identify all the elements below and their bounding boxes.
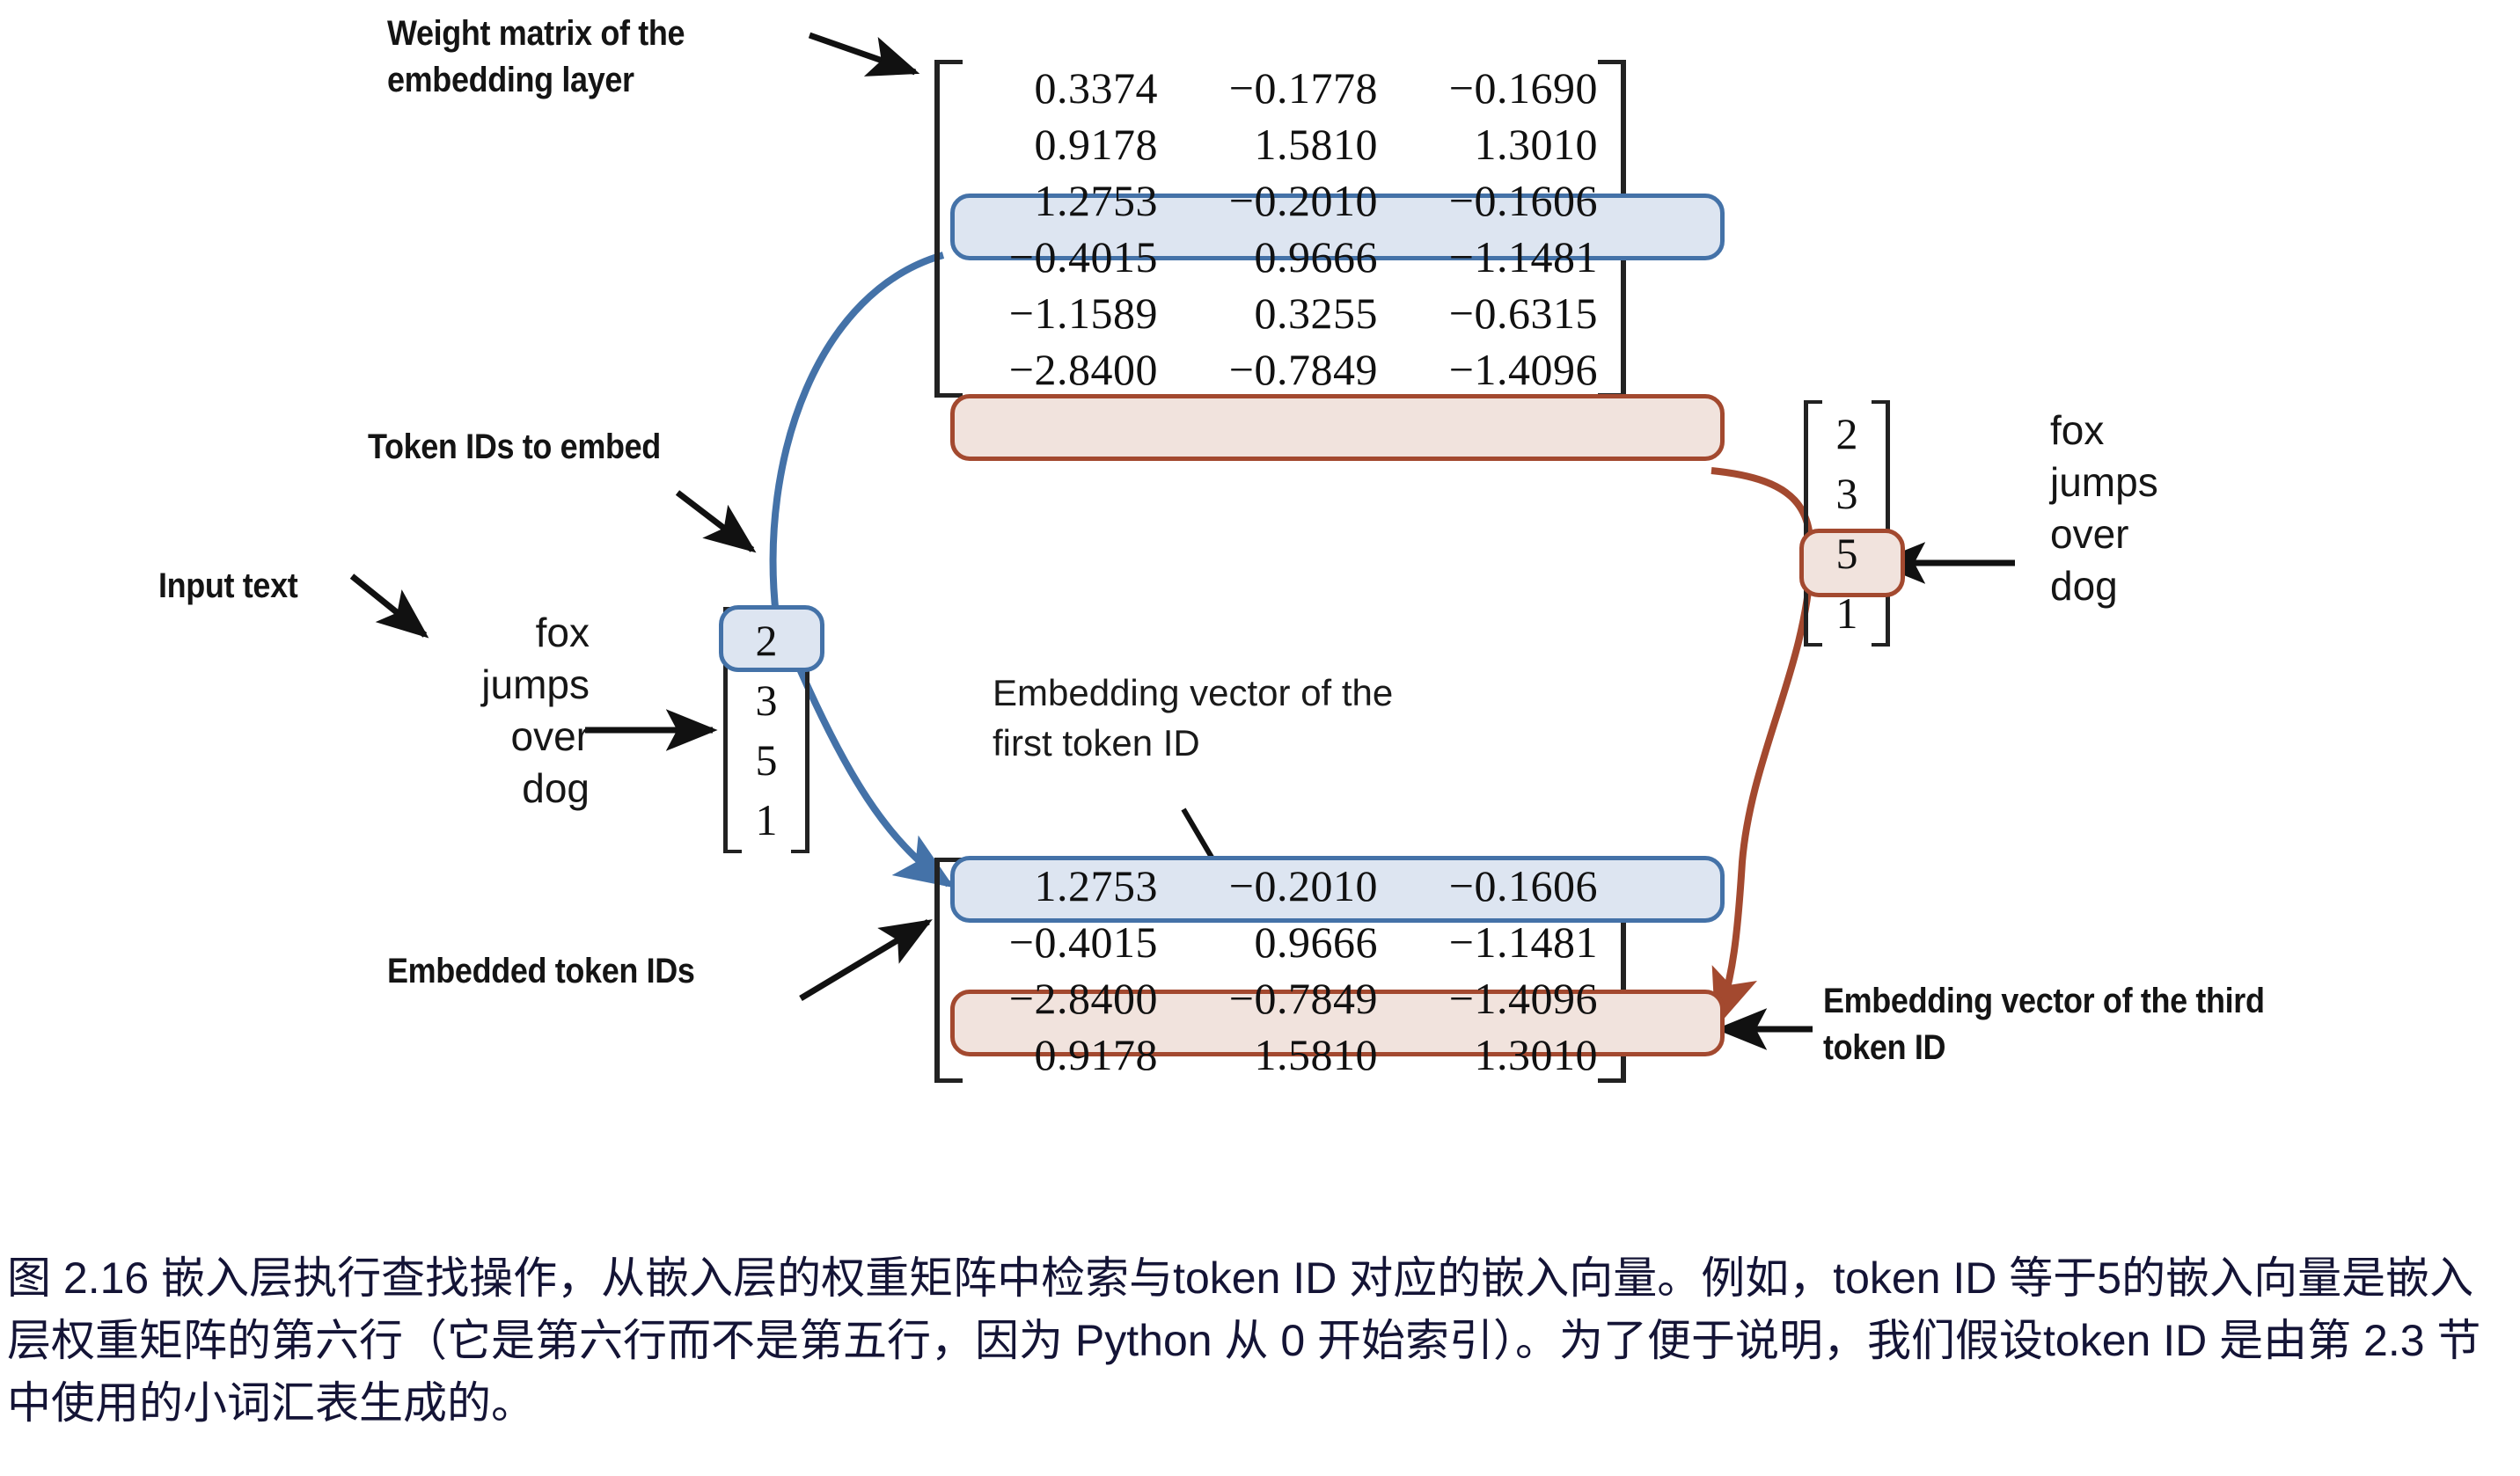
cell: −2.8400 <box>963 341 1158 398</box>
cell: 0.9178 <box>963 1027 1158 1083</box>
weight-matrix-row-2: 1.2753 −0.2010 −0.1606 <box>963 172 1598 229</box>
cell: 0.3374 <box>963 60 1158 116</box>
right-word-0: fox <box>2050 405 2349 457</box>
embedded-matrix-row-1: −0.4015 0.9666 −1.1481 <box>963 914 1598 970</box>
cell: −0.1606 <box>1378 172 1598 229</box>
token-id-cell-1: 3 <box>742 670 791 730</box>
cell: −0.4015 <box>963 914 1158 970</box>
cell: −0.7849 <box>1158 341 1378 398</box>
label-embedding-vector-third: Embedding vector of the third token ID <box>1823 978 2377 1071</box>
cell: 0.9178 <box>963 116 1158 172</box>
cell: −2.8400 <box>963 970 1158 1027</box>
cell: 1.3010 <box>1378 116 1598 172</box>
weight-matrix-row-0: 0.3374 −0.1778 −0.1690 <box>963 60 1598 116</box>
token-id-cell-2: 5 <box>1822 523 1872 583</box>
cell: −1.1589 <box>963 285 1158 341</box>
right-word-2: over <box>2050 508 2349 560</box>
cell: −0.6315 <box>1378 285 1598 341</box>
token-id-cell-1: 3 <box>1822 464 1872 523</box>
right-words: fox jumps over dog <box>2050 405 2349 612</box>
label-embedding-vector-first: Embedding vector of the first token ID <box>993 669 1591 768</box>
weight-matrix-row-3: −0.4015 0.9666 −1.1481 <box>963 229 1598 285</box>
input-word-2: over <box>414 711 590 763</box>
input-text-words: fox jumps over dog <box>414 607 590 815</box>
cell: −0.2010 <box>1158 858 1378 914</box>
embedded-token-ids-matrix: 1.2753 −0.2010 −0.1606 −0.4015 0.9666 −1… <box>934 858 1626 1083</box>
label-weight-matrix: Weight matrix of the embedding layer <box>387 11 799 104</box>
arrow-token-ids-label <box>678 493 752 550</box>
red-lookup-curve <box>1711 471 1811 1022</box>
cell: −1.4096 <box>1378 341 1598 398</box>
arrow-embedded-token-ids-label <box>801 922 928 998</box>
arrow-weight-matrix-label <box>809 35 915 72</box>
embedded-matrix-row-3: 0.9178 1.5810 1.3010 <box>963 1027 1598 1083</box>
label-embedded-token-ids: Embedded token IDs <box>387 948 799 995</box>
cell: 1.5810 <box>1158 116 1378 172</box>
weight-matrix-row-4: −1.1589 0.3255 −0.6315 <box>963 285 1598 341</box>
cell: −1.1481 <box>1378 914 1598 970</box>
figure-canvas: Weight matrix of the embedding layer Tok… <box>0 0 2520 1476</box>
cell: −0.1778 <box>1158 60 1378 116</box>
input-word-1: jumps <box>414 659 590 711</box>
cell: 0.3255 <box>1158 285 1378 341</box>
bracket-left <box>1804 400 1822 647</box>
cell: 1.5810 <box>1158 1027 1378 1083</box>
cell: −0.4015 <box>963 229 1158 285</box>
cell: −0.2010 <box>1158 172 1378 229</box>
weight-matrix-row-1: 0.9178 1.5810 1.3010 <box>963 116 1598 172</box>
token-id-cell-2: 5 <box>742 730 791 790</box>
weight-matrix-body: 0.3374 −0.1778 −0.1690 0.9178 1.5810 1.3… <box>963 60 1598 398</box>
cell: 0.9666 <box>1158 914 1378 970</box>
label-input-text: Input text <box>158 563 420 610</box>
cell: −1.4096 <box>1378 970 1598 1027</box>
label-token-ids-to-embed: Token IDs to embed <box>368 424 764 471</box>
cell: −1.1481 <box>1378 229 1598 285</box>
cell: −0.1690 <box>1378 60 1598 116</box>
cell: −0.7849 <box>1158 970 1378 1027</box>
right-word-1: jumps <box>2050 457 2349 508</box>
embedded-matrix-row-2: −2.8400 −0.7849 −1.4096 <box>963 970 1598 1027</box>
token-ids-right-body: 2 3 5 1 <box>1822 400 1872 647</box>
cell: −0.1606 <box>1378 858 1598 914</box>
token-ids-vector-left: 2 3 5 1 <box>723 607 809 853</box>
weight-matrix-row-5: −2.8400 −0.7849 −1.4096 <box>963 341 1598 398</box>
input-word-0: fox <box>414 607 590 659</box>
token-id-cell-3: 1 <box>1822 583 1872 643</box>
cell: 1.2753 <box>963 172 1158 229</box>
bracket-right <box>1872 400 1890 647</box>
cell: 1.3010 <box>1378 1027 1598 1083</box>
cell: 1.2753 <box>963 858 1158 914</box>
figure-caption: 图 2.16 嵌入层执行查找操作，从嵌入层的权重矩阵中检索与token ID 对… <box>7 1247 2515 1435</box>
weight-matrix: 0.3374 −0.1778 −0.1690 0.9178 1.5810 1.3… <box>934 60 1626 398</box>
embedded-matrix-row-0: 1.2753 −0.2010 −0.1606 <box>963 858 1598 914</box>
right-word-3: dog <box>2050 560 2349 612</box>
token-ids-vector-right: 2 3 5 1 <box>1804 400 1890 647</box>
cell: 0.9666 <box>1158 229 1378 285</box>
token-id-cell-0: 2 <box>742 610 791 670</box>
embedded-matrix-body: 1.2753 −0.2010 −0.1606 −0.4015 0.9666 −1… <box>963 858 1598 1083</box>
token-id-cell-3: 1 <box>742 790 791 850</box>
token-ids-left-body: 2 3 5 1 <box>742 607 791 853</box>
input-word-3: dog <box>414 763 590 815</box>
highlight-pill-red-weight-row <box>950 394 1725 461</box>
token-id-cell-0: 2 <box>1822 404 1872 464</box>
